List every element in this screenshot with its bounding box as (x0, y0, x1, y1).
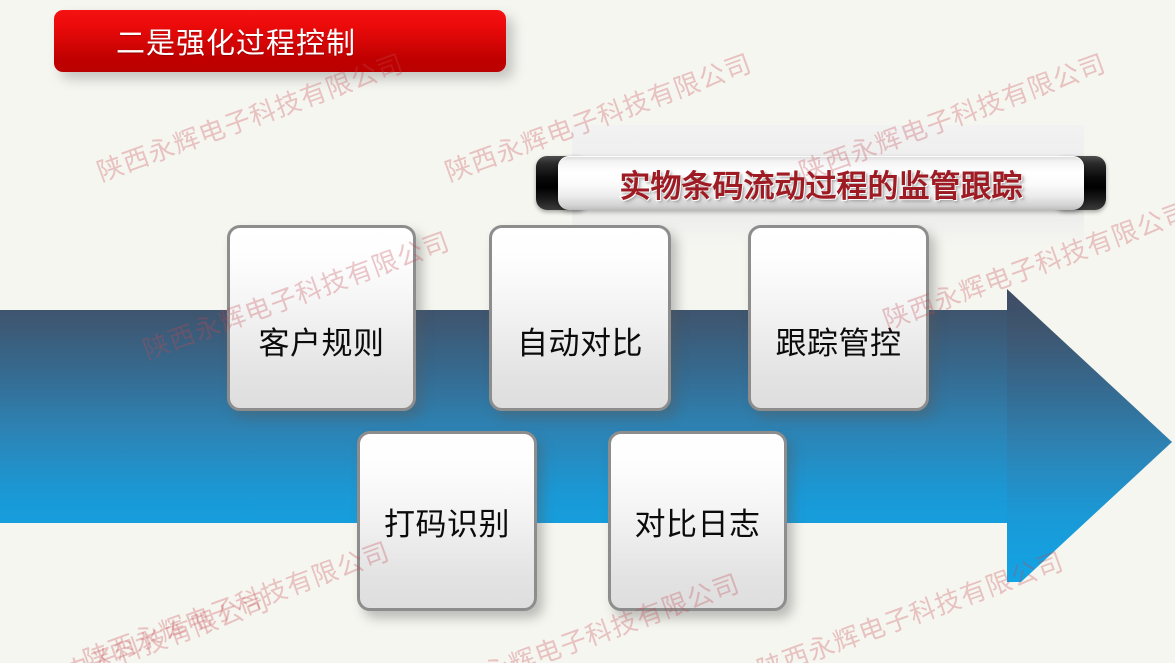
watermark-text: 陕西永辉电子科技有限公司 (0, 581, 274, 663)
banner-body: 实物条码流动过程的监管跟踪 (558, 156, 1084, 210)
slide-canvas: 二是强化过程控制 实物条码流动过程的监管跟踪 客户规则 自动对比 跟踪管控 打码… (0, 0, 1175, 663)
slide-title-plate: 二是强化过程控制 (54, 10, 506, 72)
process-box-customer-rules[interactable]: 客户规则 (227, 225, 416, 411)
process-box-label: 客户规则 (259, 318, 385, 363)
process-box-label: 跟踪管控 (776, 318, 902, 363)
section-banner: 实物条码流动过程的监管跟踪 (536, 156, 1106, 210)
process-box-code-recognition[interactable]: 打码识别 (357, 431, 537, 611)
process-box-auto-compare[interactable]: 自动对比 (489, 225, 671, 411)
process-box-label: 自动对比 (517, 318, 643, 363)
process-box-compare-log[interactable]: 对比日志 (608, 431, 787, 611)
process-box-label: 对比日志 (635, 499, 761, 544)
process-box-tracking-control[interactable]: 跟踪管控 (748, 225, 929, 411)
process-box-label: 打码识别 (384, 499, 510, 544)
arrow-head (1007, 289, 1172, 582)
banner-label: 实物条码流动过程的监管跟踪 (620, 161, 1023, 206)
page-title: 二是强化过程控制 (116, 20, 356, 62)
